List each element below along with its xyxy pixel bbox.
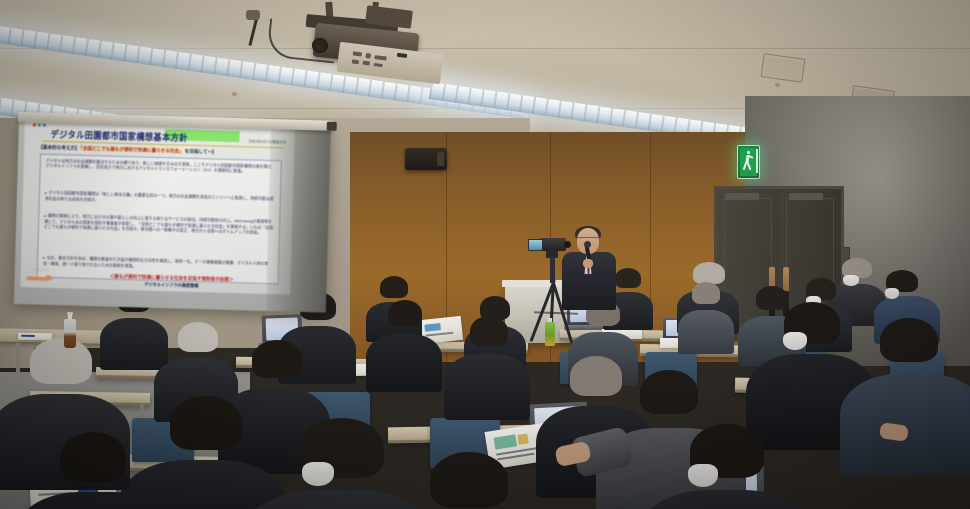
ceiling-vent [761,53,806,83]
face-mask [885,288,899,299]
camera-lens-icon [564,241,571,248]
face-mask [783,332,807,350]
emergency-exit-sign [737,145,760,179]
projected-slide: デジタル田園都市国家構想基本方針 令和4年6月7日閣議決定 【基本的な考え方】「… [20,121,295,294]
slide-arrow-icon [26,273,56,283]
green-tea-bottle [545,318,555,346]
camera-lcd-screen [528,239,543,251]
camcorder [540,238,566,251]
camera-tripod [528,238,590,346]
slide-body-box: デジタルは地方の社会課題を解決するための鍵であり、新しい価値を生み出す源泉。ここ… [37,154,282,285]
slide-paragraph: デジタルは地方の社会課題を解決するための鍵であり、新しい価値を生み出す源泉。ここ… [46,158,277,175]
wall-speaker [405,148,447,170]
face-mask [302,462,334,486]
slide-paragraph: デジタル田園都市国家構想は「新しい資本主義」の重要な柱の一つ。地方の社会課題を成… [45,190,276,208]
ceiling-projector [268,2,478,80]
seminar-room-photo: デジタル田園都市国家構想基本方針 令和4年6月7日閣議決定 【基本的な考え方】「… [0,0,970,509]
projection-screen: デジタル田園都市国家構想基本方針 令和4年6月7日閣議決定 【基本的な考え方】「… [14,119,331,313]
slide-watermark: 内閣官房 [33,267,49,273]
water-bottle [64,314,76,348]
face-mask [843,275,859,286]
slide-paragraph: 構想の実現により、地方における仕事や暮らしの向上に資する新たなサービスの創出、持… [44,213,275,236]
face-mask [688,464,718,487]
running-person-icon [744,151,753,172]
slide-paragraph: なお、基本方針を含め、構想の推進を行き届き継続的な方向性を確保し、政府一丸、デー… [43,255,274,273]
